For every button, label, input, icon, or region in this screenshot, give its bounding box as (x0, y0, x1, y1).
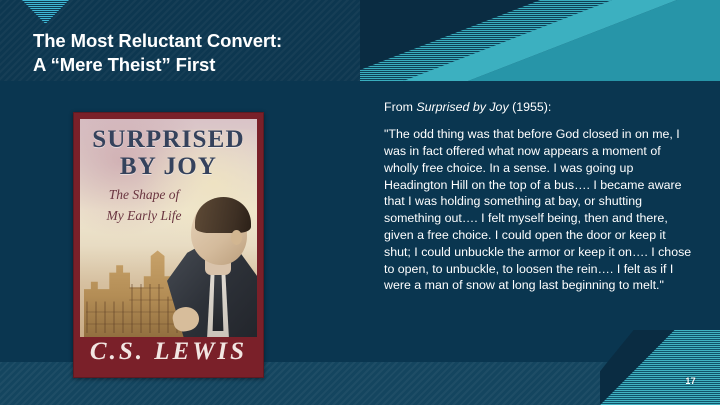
page-title-line-2: A “Mere Theist” First (33, 53, 463, 77)
book-cover-subtitle-line-2: My Early Life (90, 206, 198, 227)
page-title: The Most Reluctant Convert: A “Mere Thei… (33, 29, 463, 76)
quote-body: "The odd thing was that before God close… (384, 126, 696, 294)
attribution-prefix: From (384, 100, 416, 114)
slide: The Most Reluctant Convert: A “Mere Thei… (0, 0, 720, 405)
book-cover-author: C.S. LEWIS (74, 332, 263, 372)
page-title-line-1: The Most Reluctant Convert: (33, 29, 463, 53)
page-number: 17 (685, 376, 696, 386)
book-cover-subtitle: The Shape of My Early Life (90, 185, 198, 227)
attribution-suffix: (1955): (509, 100, 552, 114)
book-cover-image: SURPRISED BY JOY The Shape of My Early L… (73, 112, 264, 378)
bottom-right-diagonal-decoration (600, 330, 720, 405)
portrait-hair (195, 197, 251, 233)
portrait-ear (231, 230, 242, 245)
book-cover-title-line-1: SURPRISED (80, 126, 257, 153)
book-cover-subtitle-line-1: The Shape of (90, 185, 198, 206)
book-cover-artwork: SURPRISED BY JOY The Shape of My Early L… (80, 119, 257, 337)
quote-text-column: From Surprised by Joy (1955): "The odd t… (384, 99, 696, 294)
attribution-book-title: Surprised by Joy (416, 100, 508, 114)
quote-attribution: From Surprised by Joy (1955): (384, 99, 696, 115)
book-cover-title-line-2: BY JOY (80, 153, 257, 180)
book-cover-title: SURPRISED BY JOY (80, 126, 257, 180)
